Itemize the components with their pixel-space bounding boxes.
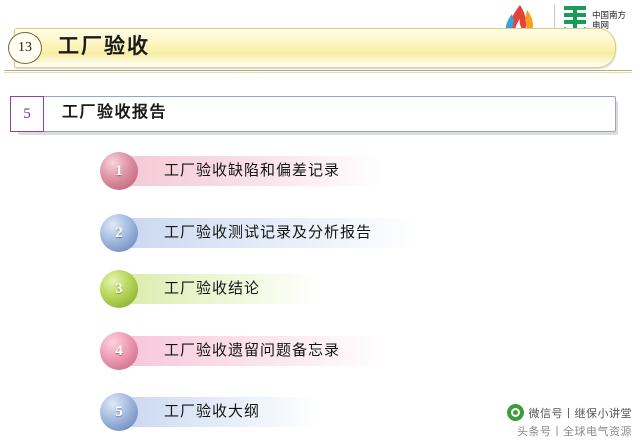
title-underline	[4, 70, 632, 71]
list-item-number: 2	[100, 214, 138, 252]
page-title: 工厂验收	[58, 32, 150, 62]
list-item-label: 工厂验收缺陷和偏差记录	[164, 156, 340, 186]
svg-text:中国南方: 中国南方	[592, 10, 626, 20]
title-underline-secondary	[4, 72, 632, 73]
wechat-avatar-icon	[507, 404, 524, 421]
list-item-label: 工厂验收大纲	[164, 397, 260, 427]
list-item-label: 工厂验收测试记录及分析报告	[164, 218, 372, 248]
list-item-number: 4	[100, 332, 138, 370]
section-number-badge: 5	[10, 96, 44, 132]
section-title: 工厂验收报告	[62, 96, 167, 130]
watermark-account: 微信号丨继保小讲堂	[507, 404, 633, 421]
watermark-source: 头条号丨全球电气资源	[517, 423, 632, 439]
list-item-number: 5	[100, 393, 138, 431]
list-item-label: 工厂验收遗留问题备忘录	[164, 336, 340, 366]
watermark-account-text: 微信号丨继保小讲堂	[529, 405, 633, 421]
slide: 中国南方 电网 广州2010年亚运会高级合作伙伴 Guangzhou 2010 …	[0, 0, 640, 443]
list-item-number: 3	[100, 270, 138, 308]
list-item-number: 1	[100, 152, 138, 190]
list-item-label: 工厂验收结论	[164, 274, 260, 304]
chapter-number-badge: 13	[8, 32, 42, 64]
